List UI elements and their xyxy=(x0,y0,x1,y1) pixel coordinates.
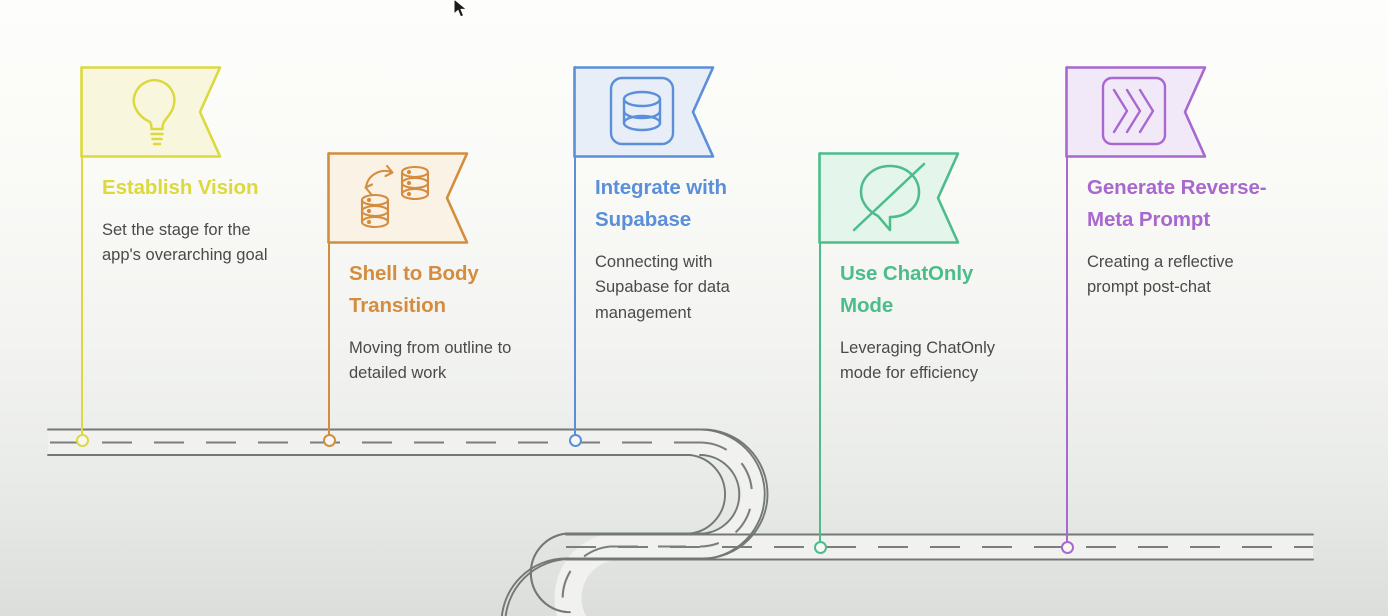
road-marker-shell-to-body-transition[interactable] xyxy=(323,434,336,447)
flag-use-chatonly-mode xyxy=(818,152,966,244)
roadmap-diagram: Establish Vision Set the stage for the a… xyxy=(0,0,1388,616)
milestone-description: Set the stage for the app's overarching … xyxy=(102,218,294,268)
milestone-description: Creating a reflective prompt post-chat xyxy=(1087,250,1279,300)
milestone-title: Use ChatOnly Mode xyxy=(840,258,1025,322)
milestone-description: Moving from outline to detailed work xyxy=(349,336,541,386)
road-marker-use-chatonly-mode[interactable] xyxy=(814,541,827,554)
milestone-title: Establish Vision xyxy=(102,172,287,204)
milestone-use-chatonly-mode[interactable]: Use ChatOnly Mode Leveraging ChatOnly mo… xyxy=(818,152,1018,387)
flag-generate-reverse-meta-prompt xyxy=(1065,66,1213,158)
flag-shell-to-body-transition xyxy=(327,152,475,244)
milestone-generate-reverse-meta-prompt[interactable]: Generate Reverse-Meta Prompt Creating a … xyxy=(1065,66,1265,301)
milestone-integrate-with-supabase[interactable]: Integrate with Supabase Connecting with … xyxy=(573,66,773,326)
milestone-establish-vision[interactable]: Establish Vision Set the stage for the a… xyxy=(80,66,280,268)
milestone-title: Integrate with Supabase xyxy=(595,172,780,236)
milestone-title: Generate Reverse-Meta Prompt xyxy=(1087,172,1272,236)
milestone-title: Shell to Body Transition xyxy=(349,258,534,322)
flag-integrate-with-supabase xyxy=(573,66,721,158)
road-marker-establish-vision[interactable] xyxy=(76,434,89,447)
milestone-shell-to-body-transition[interactable]: Shell to Body Transition Moving from out… xyxy=(327,152,527,387)
milestone-description: Leveraging ChatOnly mode for efficiency xyxy=(840,336,1032,386)
flag-establish-vision xyxy=(80,66,228,158)
milestone-description: Connecting with Supabase for data manage… xyxy=(595,250,787,325)
road-marker-generate-reverse-meta-prompt[interactable] xyxy=(1061,541,1074,554)
road-marker-integrate-with-supabase[interactable] xyxy=(569,434,582,447)
